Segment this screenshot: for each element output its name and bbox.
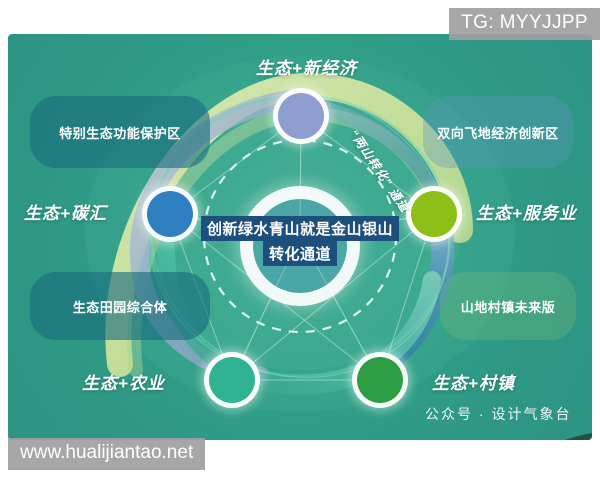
node-label-eco-new-economy: 生态+新经济: [256, 54, 357, 79]
screenshot-root: TG: MYYJJPP: [0, 0, 600, 480]
node-label-eco-services: 生态+服务业: [476, 199, 577, 224]
node-label-eco-village: 生态+村镇: [432, 369, 515, 394]
node-eco-agriculture[interactable]: [204, 352, 260, 408]
center-caption-line-2: 转化通道: [263, 241, 337, 266]
node-label-eco-carbon-sink: 生态+碳汇: [24, 199, 107, 224]
infographic-poster: 特别生态功能保护区 双向飞地经济创新区 生态田园综合体 山地村镇未来版 “两山转…: [8, 34, 592, 440]
node-eco-new-economy[interactable]: [273, 88, 329, 144]
card-eco-pastoral-complex[interactable]: 生态田园综合体: [30, 272, 210, 340]
center-caption: 创新绿水青山就是金山银山 转化通道: [170, 216, 430, 266]
center-hub: 创新绿水青山就是金山银山 转化通道: [240, 186, 360, 306]
wechat-icon: [400, 406, 419, 422]
center-caption-line-1: 创新绿水青山就是金山银山: [201, 216, 399, 241]
card-mountain-village-future[interactable]: 山地村镇未来版: [440, 272, 576, 340]
card-special-eco-protection-zone[interactable]: 特别生态功能保护区: [30, 96, 210, 168]
node-eco-village[interactable]: [352, 352, 408, 408]
telegram-watermark: TG: MYYJJPP: [449, 8, 600, 40]
card-bidirectional-enclave-economy-zone[interactable]: 双向飞地经济创新区: [423, 96, 573, 168]
node-label-eco-agriculture: 生态+农业: [82, 369, 165, 394]
wechat-credit: 公众号 · 设计气象台: [400, 404, 571, 424]
site-watermark: www.hualijiantao.net: [8, 438, 205, 470]
